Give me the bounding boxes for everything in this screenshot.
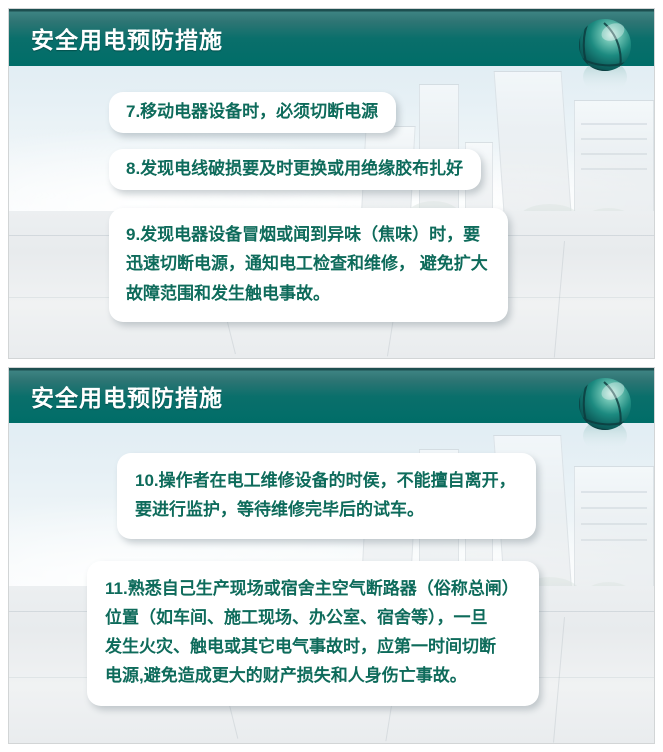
page-title: 安全用电预防措施 <box>31 379 223 413</box>
slide-1: 安全用电预防措施 <box>8 8 655 359</box>
tip-card-10: 10.操作者在电工维修设备的时侯，不能擅自离开， 要进行监护，等待维修完毕后的试… <box>117 453 536 538</box>
slide-1-body: 7.移动电器设备时，必须切断电源 8.发现电线破损要及时更换或用绝缘胶布扎好 9… <box>9 66 654 358</box>
slide-2-header: 安全用电预防措施 <box>9 368 654 423</box>
tip-card-8: 8.发现电线破损要及时更换或用绝缘胶布扎好 <box>109 149 481 190</box>
tip-card-7: 7.移动电器设备时，必须切断电源 <box>109 92 396 133</box>
tip-text: 7.移动电器设备时，必须切断电源 <box>126 101 378 123</box>
tip-text: 11.熟悉自己生产现场或宿舍主空气断路器（俗称总闸） 位置（如车间、施工现场、办… <box>105 574 519 691</box>
slide-1-header: 安全用电预防措施 <box>9 9 654 66</box>
slide-2: 安全用电预防措施 <box>8 367 655 744</box>
page-title: 安全用电预防措施 <box>31 21 223 55</box>
tip-card-11: 11.熟悉自己生产现场或宿舍主空气断路器（俗称总闸） 位置（如车间、施工现场、办… <box>87 561 539 706</box>
slide-2-body: 10.操作者在电工维修设备的时侯，不能擅自离开， 要进行监护，等待维修完毕后的试… <box>9 423 654 743</box>
tip-text: 8.发现电线破损要及时更换或用绝缘胶布扎好 <box>126 158 463 180</box>
tip-text: 9.发现电器设备冒烟或闻到异味（焦味）时，要 迅速切断电源，通知电工检查和维修，… <box>126 220 488 308</box>
tip-card-9: 9.发现电器设备冒烟或闻到异味（焦味）时，要 迅速切断电源，通知电工检查和维修，… <box>109 208 508 322</box>
slide-deck: 安全用电预防措施 <box>0 0 663 752</box>
tip-text: 10.操作者在电工维修设备的时侯，不能擅自离开， 要进行监护，等待维修完毕后的试… <box>135 466 516 524</box>
